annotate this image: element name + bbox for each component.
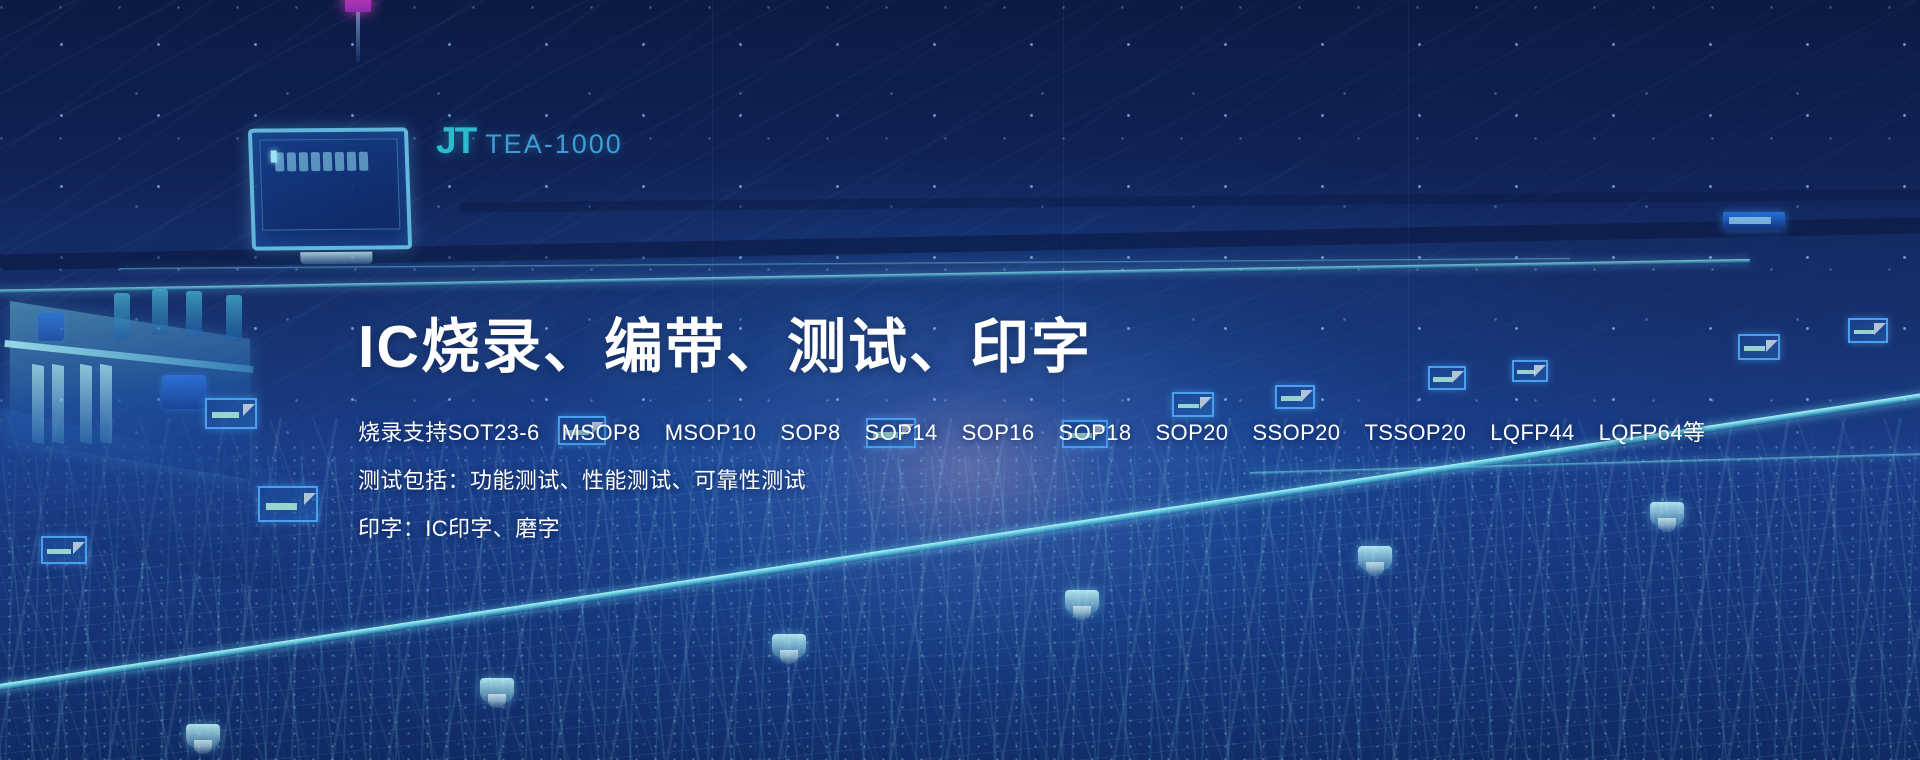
monitor-chip-row: [275, 152, 369, 172]
machine-fin: [100, 364, 112, 444]
rail-mount-foot: [186, 724, 220, 748]
machine-cylinder: [38, 313, 64, 341]
testing-scope-line: 测试包括：功能测试、性能测试、可靠性测试: [358, 457, 1658, 505]
magenta-indicator-light-icon: [345, 0, 371, 12]
package-msop8: MSOP8: [562, 420, 641, 445]
floating-screen-icon: [1848, 318, 1888, 343]
rail-mount-foot: [772, 634, 806, 658]
banner-copy-block: IC烧录、编带、测试、印字 烧录支持SOT23-6MSOP8MSOP10SOP8…: [358, 316, 1658, 553]
banner-subline-group: 烧录支持SOT23-6MSOP8MSOP10SOP8SOP14SOP16SOP1…: [358, 409, 1658, 553]
burn-in-machine-graphic: [0, 265, 300, 480]
supported-packages-line: 烧录支持SOT23-6MSOP8MSOP10SOP8SOP14SOP16SOP1…: [358, 409, 1658, 457]
package-ssop20: SSOP20: [1252, 420, 1340, 445]
marking-scope-line: 印字：IC印字、磨字: [358, 505, 1658, 553]
package-sop20: SOP20: [1155, 420, 1228, 445]
machine-post: [114, 293, 130, 339]
machine-post: [152, 289, 168, 335]
machine-fin: [32, 364, 44, 444]
package-sop16: SOP16: [962, 420, 1035, 445]
machine-cylinder: [162, 375, 206, 409]
workstation-monitor-icon: [248, 127, 412, 250]
package-tssop20: TSSOP20: [1364, 420, 1466, 445]
packages-prefix: 烧录支持SOT23-6: [358, 420, 540, 445]
floating-screen-icon: [41, 536, 87, 564]
package-lqfp44: LQFP44: [1490, 420, 1574, 445]
floating-screen-icon: [1738, 334, 1780, 360]
monitor-stand: [300, 252, 372, 265]
rail-mount-foot: [480, 678, 514, 702]
monitor-screen: [259, 138, 400, 230]
jt-logo: JT: [436, 120, 475, 162]
machine-fin: [52, 364, 64, 444]
machine-post: [226, 295, 242, 341]
floating-screen-icon: [205, 398, 257, 429]
machine-post: [186, 291, 202, 337]
banner-headline: IC烧录、编带、测试、印字: [358, 316, 1658, 379]
ic-service-hero-banner: JT TEA-1000 IC烧录、编带、测试、印字 烧录支持SOT23-6MSO…: [0, 0, 1920, 760]
control-box-icon: [1723, 212, 1785, 230]
package-lqfp64: LQFP64等: [1599, 420, 1706, 445]
package-sop18: SOP18: [1059, 420, 1132, 445]
package-sop8: SOP8: [780, 420, 840, 445]
machine-fin: [80, 364, 92, 444]
rail-mount-foot: [1065, 590, 1099, 614]
package-sop14: SOP14: [865, 420, 938, 445]
equipment-brand-label: JT TEA-1000: [436, 120, 623, 162]
package-msop10: MSOP10: [665, 420, 757, 445]
floating-screen-icon: [258, 486, 318, 522]
equipment-model-text: TEA-1000: [485, 129, 623, 160]
